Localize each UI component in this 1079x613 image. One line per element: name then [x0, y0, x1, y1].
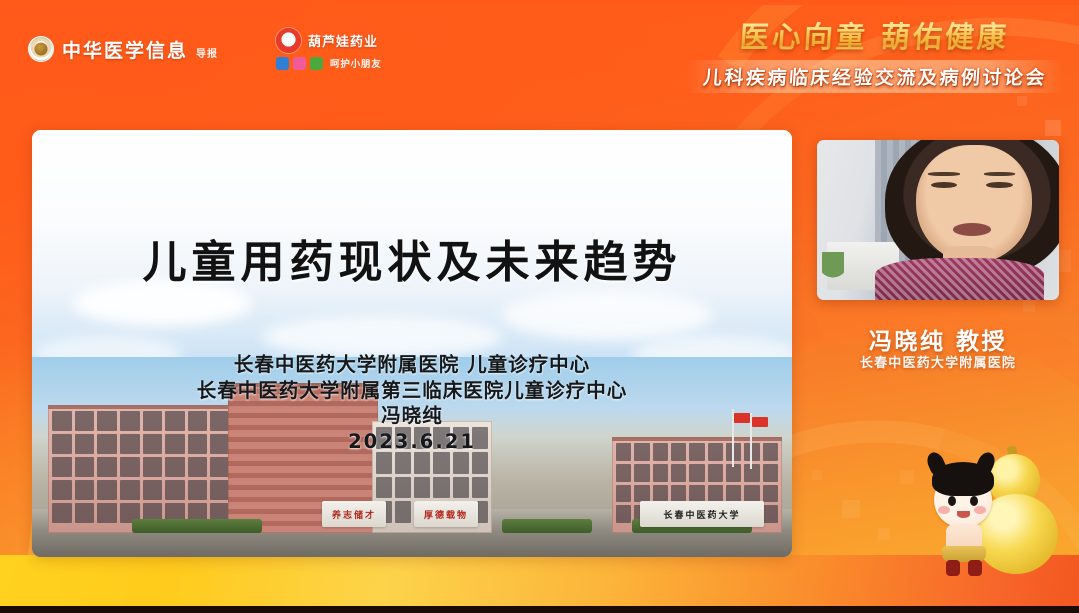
cloud-decoration — [502, 290, 712, 340]
speaker-eye — [931, 182, 958, 188]
presentation-slide[interactable]: 养志储才 厚德载物 长春中医药大学 儿童用药现状及未来趋势 长春中医药大学附属医… — [32, 130, 792, 557]
slide-presenter-name: 冯晓纯 — [32, 403, 792, 429]
chip-blue-icon — [276, 57, 289, 70]
chip-pink-icon — [293, 57, 306, 70]
campus-ground — [32, 531, 792, 557]
mascot-eye — [970, 496, 978, 506]
square-decoration — [1045, 120, 1061, 136]
logo-wordmark: 中华医学信息 — [62, 36, 188, 63]
campus-sign-main: 长春中医药大学 — [640, 501, 764, 527]
square-decoration — [842, 500, 860, 518]
mascot-cheek — [974, 506, 986, 514]
campus-hedge — [132, 519, 262, 533]
logo-wordmark-suffix: 导报 — [196, 45, 218, 60]
slide-subtitle-line: 长春中医药大学附属第三临床医院儿童诊疗中心 — [32, 378, 792, 404]
speaker-eyebrow — [984, 172, 1015, 176]
square-decoration — [878, 528, 890, 540]
speaker-mouth — [953, 223, 992, 236]
speaker-eyebrow — [928, 172, 959, 176]
speaker-video-feed[interactable] — [817, 140, 1059, 300]
mascot-eye — [948, 496, 956, 506]
sponsor-secondary-row: 呵护小朋友 — [276, 56, 382, 70]
campus-sign-right: 厚德载物 — [414, 501, 478, 527]
slide-subtitle-block: 长春中医药大学附属医院 儿童诊疗中心 长春中医药大学附属第三临床医院儿童诊疗中心… — [32, 352, 792, 455]
logo-sponsor: 葫芦娃药业 呵护小朋友 — [276, 28, 382, 70]
slide-date: 2023.6.21 — [32, 429, 792, 455]
square-decoration — [1023, 300, 1035, 312]
square-decoration — [1017, 96, 1027, 106]
event-banner: 医心向童 葫佑健康 儿科疾病临床经验交流及病例讨论会 — [687, 14, 1063, 93]
speaker-organization: 长春中医药大学附属医院 — [817, 352, 1059, 371]
chip-green-icon — [310, 57, 323, 70]
square-decoration — [812, 470, 822, 480]
mascot-cheek — [938, 506, 950, 514]
logo-chinese-medical-information-herald: 中华医学信息 导报 — [28, 36, 218, 63]
top-accent-strip — [0, 0, 1079, 5]
logo-bar: 中华医学信息 导报 葫芦娃药业 呵护小朋友 — [28, 28, 382, 70]
speaker-eye — [986, 182, 1013, 188]
event-banner-subtitle: 儿科疾病临床经验交流及病例讨论会 — [702, 63, 1048, 90]
calabash-boy-mascot — [920, 440, 1060, 585]
speaker-clothing — [875, 258, 1044, 300]
mascot-boot — [968, 560, 982, 576]
campus-sign-left: 养志储才 — [322, 501, 386, 527]
square-decoration — [900, 470, 914, 484]
medical-emblem-icon — [28, 36, 54, 62]
mascot-boy-figure — [926, 466, 1004, 578]
event-banner-subtitle-plate: 儿科疾病临床经验交流及病例讨论会 — [687, 60, 1063, 93]
broadcast-stage: 中华医学信息 导报 葫芦娃药业 呵护小朋友 医心向童 葫佑健康 儿科疾病临床经验… — [0, 0, 1079, 613]
slide-title: 儿童用药现状及未来趋势 — [32, 226, 792, 290]
sponsor-circle-icon — [276, 28, 301, 53]
slide-subtitle-line: 长春中医药大学附属医院 儿童诊疗中心 — [32, 352, 792, 378]
mascot-boot — [946, 560, 960, 576]
sponsor-tagline: 呵护小朋友 — [330, 56, 382, 70]
bottom-color-band — [0, 555, 1079, 613]
sponsor-primary-row: 葫芦娃药业 — [276, 28, 382, 53]
speaker-name: 冯晓纯 教授 — [817, 322, 1059, 356]
event-banner-title: 医心向童 葫佑健康 — [739, 14, 1011, 56]
sponsor-name: 葫芦娃药业 — [308, 31, 378, 50]
mascot-mouth — [957, 511, 970, 518]
video-room-background — [817, 140, 1059, 300]
campus-hedge — [502, 519, 592, 533]
plant-decoration — [822, 252, 844, 287]
